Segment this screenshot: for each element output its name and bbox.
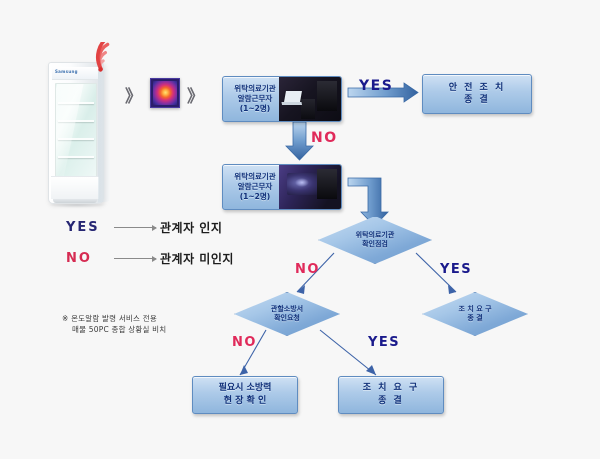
legend-row-yes: YES 관계자 인지 <box>66 219 222 236</box>
decision-action-request-label: 조 치 요 구 종 결 <box>458 305 491 323</box>
legend-key-yes: YES <box>66 220 112 235</box>
footnote-line-1: ※ 온도알람 발령 서비스 전용 <box>62 313 252 324</box>
refrigerator-open-door <box>98 69 110 202</box>
legend-value-yes: 관계자 인지 <box>160 219 222 236</box>
flow-label-yes-top: YES <box>359 78 393 94</box>
alert-box-first-call-text-wrap: 위탁의료기관 알람근무자 (1~2명) <box>227 77 283 121</box>
cctv-monitor-photo-violet <box>279 165 341 209</box>
decision-action-request[interactable]: 조 치 요 구 종 결 <box>422 292 528 336</box>
refrigerator-feet <box>53 199 97 203</box>
legend-arrow-no <box>114 258 156 259</box>
flow-label-yes-right: YES <box>440 262 472 277</box>
decision-confirm-check[interactable]: 위탁의료기관 확인점검 <box>318 216 432 264</box>
decision-confirm-check-label: 위탁의료기관 확인점검 <box>356 231 395 249</box>
flow-label-no-bottom-left: NO <box>232 335 257 350</box>
footnote-line-2: 매물 50PC 종합 상황실 비치 <box>62 324 252 335</box>
refrigerator-logo: Samsung <box>55 69 78 74</box>
photo-dark-shape <box>317 169 337 199</box>
wifi-signal-icon <box>92 42 126 74</box>
legend-row-no: NO 관계자 미인지 <box>66 250 234 267</box>
safety-action-complete-label: 안 전 조 치 종 결 <box>447 82 508 106</box>
decision-fire-safety-check-label: 관할소방서 확인요청 <box>271 305 303 323</box>
action-request-complete-label: 조 치 요 구 종 결 <box>361 382 422 408</box>
action-request-complete-box[interactable]: 조 치 요 구 종 결 <box>338 376 444 414</box>
photo-laptop-shape <box>284 91 302 102</box>
legend-value-no: 관계자 미인지 <box>160 250 234 267</box>
safety-action-complete-box[interactable]: 안 전 조 치 종 결 <box>422 74 532 114</box>
flow-label-no-left: NO <box>295 262 320 277</box>
flowchart-canvas: Samsung 》 》 <box>0 0 600 459</box>
photo-dark-shape <box>301 99 315 119</box>
alert-box-second-call-label: 위탁의료기관 알람근무자 (1~2명) <box>232 172 277 202</box>
refrigerator-glass-door <box>55 83 97 177</box>
footnote: ※ 온도알람 발령 서비스 전용 매물 50PC 종합 상황실 비치 <box>62 313 252 335</box>
alert-box-second-call[interactable]: 위탁의료기관 알람근무자 (1~2명) <box>222 164 342 210</box>
refrigerator-base <box>51 176 99 199</box>
arrow-alert1-to-alert2 <box>286 122 313 160</box>
alert-box-second-call-text-wrap: 위탁의료기관 알람근무자 (1~2명) <box>227 165 283 209</box>
showcase-refrigerator: Samsung <box>48 62 110 204</box>
legend-arrow-yes <box>114 227 156 228</box>
fire-force-onsite-label: 필요시 소방력 현 장 확 인 <box>217 382 274 408</box>
legend-key-no: NO <box>66 251 112 266</box>
flow-label-no-down: NO <box>311 130 338 146</box>
photo-dark-shape <box>317 81 337 111</box>
signal-chevron-1: 》 <box>125 82 139 107</box>
cctv-monitor-photo <box>279 77 341 121</box>
fire-force-onsite-box[interactable]: 필요시 소방력 현 장 확 인 <box>192 376 298 414</box>
photo-glow-shape <box>295 178 309 187</box>
alert-box-first-call-label: 위탁의료기관 알람근무자 (1~2명) <box>232 84 277 114</box>
glass-reflection <box>55 83 85 177</box>
flow-label-yes-bottom-right: YES <box>368 335 400 350</box>
refrigerator-body: Samsung <box>48 62 104 204</box>
alert-box-first-call[interactable]: 위탁의료기관 알람근무자 (1~2명) <box>222 76 342 122</box>
thermal-gradient <box>153 81 177 105</box>
thermal-image-icon <box>150 78 180 108</box>
signal-chevron-2: 》 <box>187 82 201 107</box>
